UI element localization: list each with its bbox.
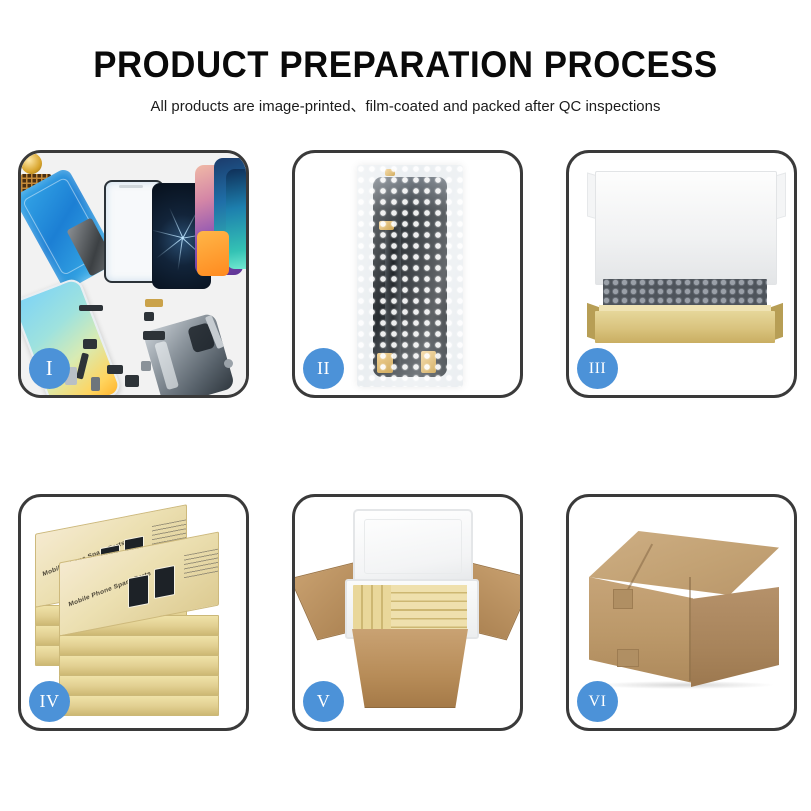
- kraft-tray-front: [595, 311, 775, 343]
- copper-coil-part: [21, 153, 42, 174]
- orange-gradient-phone: [197, 231, 229, 276]
- carton-body: [347, 629, 473, 708]
- tape-patch-lower: [617, 649, 639, 667]
- step-badge-3: III: [577, 348, 618, 389]
- plastic-sheen: [357, 165, 463, 387]
- step-panel-1: I: [18, 150, 249, 398]
- foam-lid: [353, 509, 473, 585]
- step-badge-6: VI: [577, 681, 618, 722]
- header: PRODUCT PREPARATION PROCESS All products…: [0, 0, 811, 116]
- phone-back-housing: [143, 312, 236, 395]
- white-box-lid: [595, 171, 777, 285]
- step-panel-5: V: [292, 494, 523, 731]
- step-panel-3: III: [566, 150, 797, 398]
- carton-front-face: [589, 577, 693, 683]
- carton-side-face: [691, 587, 779, 687]
- page-subtitle: All products are image-printed、film-coat…: [8, 85, 803, 116]
- bubble-wrap-bag: [357, 165, 463, 387]
- step-panel-6: VI: [566, 494, 797, 731]
- step-badge-1: I: [29, 348, 70, 389]
- step-panel-4: Mobile Phone Spare Parts Mobile Phone Sp…: [18, 494, 249, 731]
- carton-shadow: [597, 681, 773, 689]
- tape-patch-upper: [613, 589, 633, 609]
- gold-boxes-stacked: [391, 585, 467, 629]
- step-badge-4: IV: [29, 681, 70, 722]
- infographic-canvas: PRODUCT PREPARATION PROCESS All products…: [0, 0, 811, 811]
- step-badge-5: V: [303, 681, 344, 722]
- page-title: PRODUCT PREPARATION PROCESS: [24, 0, 786, 85]
- step-panel-2: II: [292, 150, 523, 398]
- step-badge-2: II: [303, 348, 344, 389]
- teal-gradient-phone-b: [226, 169, 246, 269]
